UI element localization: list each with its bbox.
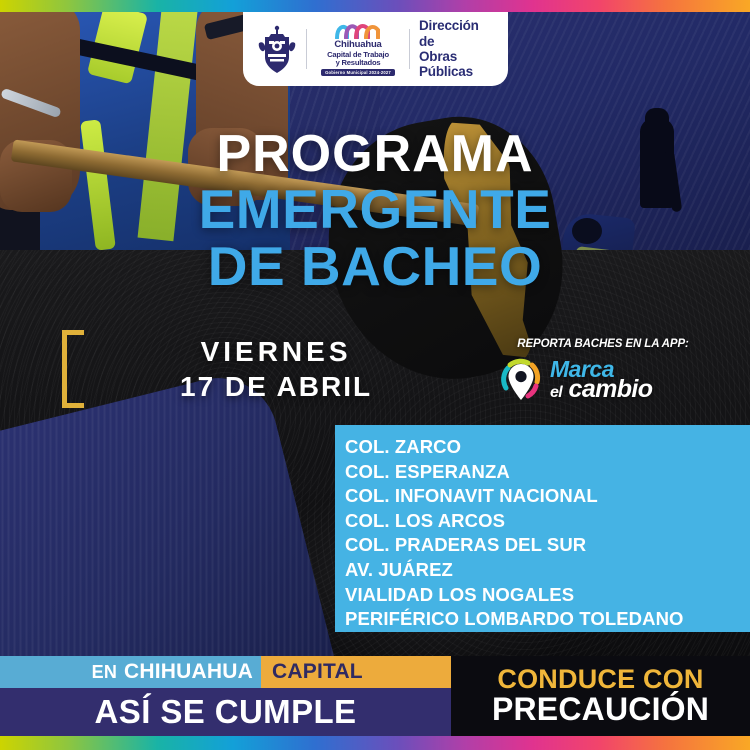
footer-slogan-label: ASÍ SE CUMPLE <box>95 693 357 731</box>
app-name-cambio: el cambio <box>550 377 652 402</box>
date-text: VIERNES 17 DE ABRIL <box>180 334 372 404</box>
map-pin-icon <box>498 356 544 404</box>
footer-warning-block: CONDUCE CON PRECAUCIÓN <box>451 656 750 736</box>
footer-capital-label: CAPITAL <box>272 660 363 684</box>
list-item: COL. ESPERANZA <box>345 460 750 485</box>
date-day-date: 17 DE ABRIL <box>180 369 372 404</box>
bottom-rainbow-strip <box>0 736 750 750</box>
app-caption: REPORTA BACHES EN LA APP: <box>498 338 708 350</box>
chihuahua-government-label: Gobierno Municipal 2024-2027 <box>321 69 395 76</box>
list-item: COL. INFONAVIT NACIONAL <box>345 484 750 509</box>
chihuahua-brand-logo: Chihuahua Capital de Trabajo y Resultado… <box>316 22 400 75</box>
header-divider-1 <box>306 29 307 69</box>
list-item: COL. ZARCO <box>345 435 750 460</box>
chihuahua-coat-of-arms-icon <box>257 25 297 73</box>
department-line-2: Obras Públicas <box>419 49 496 80</box>
program-title: PROGRAMA EMERGENTE DE BACHEO <box>0 128 750 295</box>
title-line-3: DE BACHEO <box>0 238 750 295</box>
footer-en-label: EN <box>92 662 117 683</box>
chihuahua-m-logo-icon <box>335 22 381 39</box>
footer-en-chihuahua: EN CHIHUAHUA <box>0 656 261 688</box>
title-line-1: PROGRAMA <box>0 128 750 181</box>
date-block: VIERNES 17 DE ABRIL <box>62 330 372 408</box>
header-logo-bar: Chihuahua Capital de Trabajo y Resultado… <box>243 12 508 86</box>
list-item: COL. LOS ARCOS <box>345 509 750 534</box>
top-rainbow-strip <box>0 0 750 12</box>
app-wordmark: Marca el cambio <box>550 358 652 402</box>
list-item: PERIFÉRICO LOMBARDO TOLEDANO <box>345 607 750 632</box>
list-item: AV. JUÁREZ <box>345 558 750 583</box>
footer-capital-badge: CAPITAL <box>261 656 451 688</box>
tagline-line-2: y Resultados <box>336 58 381 67</box>
footer-chihuahua-label: CHIHUAHUA <box>124 660 253 684</box>
footer-slogan-row: ASÍ SE CUMPLE <box>0 688 451 736</box>
department-title: Dirección de Obras Públicas <box>419 18 496 80</box>
footer-top-row: EN CHIHUAHUA CAPITAL <box>0 656 451 688</box>
left-bracket-icon <box>62 330 84 408</box>
locations-panel: COL. ZARCO COL. ESPERANZA COL. INFONAVIT… <box>335 425 750 632</box>
header-divider-2 <box>409 29 410 69</box>
list-item: VIALIDAD LOS NOGALES <box>345 583 750 608</box>
report-app-block[interactable]: REPORTA BACHES EN LA APP: Marca el cambi… <box>498 338 708 404</box>
title-line-2: EMERGENTE <box>0 181 750 238</box>
app-name-cambio-word: cambio <box>569 375 653 403</box>
app-name-el: el <box>550 384 562 401</box>
chihuahua-brand-tagline: Capital de Trabajo y Resultados <box>327 51 389 67</box>
chihuahua-brand-name: Chihuahua <box>334 40 381 50</box>
list-item: COL. PRADERAS DEL SUR <box>345 533 750 558</box>
department-line-1: Dirección de <box>419 18 496 49</box>
warning-line-2: PRECAUCIÓN <box>492 693 709 727</box>
footer-slogan-block: EN CHIHUAHUA CAPITAL ASÍ SE CUMPLE <box>0 656 451 736</box>
marca-el-cambio-logo[interactable]: Marca el cambio <box>498 356 708 404</box>
warning-line-1: CONDUCE CON <box>497 665 703 693</box>
date-day-name: VIERNES <box>180 334 372 369</box>
